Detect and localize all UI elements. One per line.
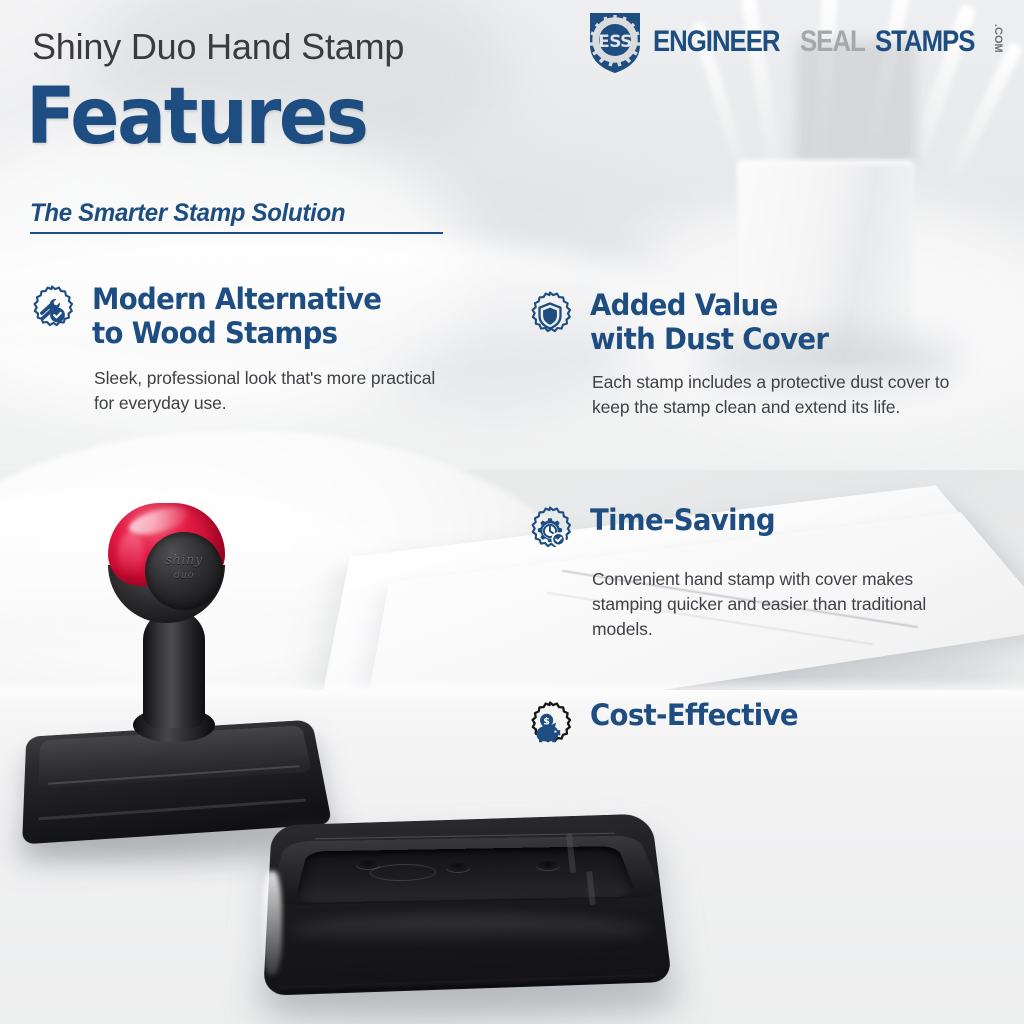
feature-title-line: with Dust Cover [590,322,828,356]
shield-badge-icon [524,290,576,342]
feature-title-line: Modern Alternative [92,282,381,316]
subheading-underline [30,232,443,234]
feature-title-line: Added Value [590,288,828,322]
page-title: Features [26,78,367,156]
feature-description: Sleek, professional look that's more pra… [94,366,454,416]
feature-title-line: to Wood Stamps [92,316,381,350]
logo-word-seal: SEAL [800,27,865,57]
feature-header: $ Cost-Effective [524,698,1004,752]
feature-description: Convenient hand stamp with cover makes s… [592,567,972,642]
logo-word-dotcom: .COM [992,24,1004,53]
feature-item-added-value: Added Value with Dust Cover Each stamp i… [524,288,1004,420]
feature-title: Time-Saving [590,503,775,537]
feature-title: Modern Alternative to Wood Stamps [92,282,381,350]
feature-title: Added Value with Dust Cover [590,288,828,356]
feature-description: Each stamp includes a protective dust co… [592,370,962,420]
clock-gear-check-badge-icon [524,505,576,557]
content-layer: Shiny Duo Hand Stamp [0,0,1024,1024]
subheading-block: The Smarter Stamp Solution [30,198,443,234]
tools-check-badge-icon [26,284,78,336]
product-title: Shiny Duo Hand Stamp [32,26,404,68]
logo-word-engineer: ENGINEER [653,27,780,57]
feature-item-cost-effective: $ Cost-Effective [524,698,1004,752]
feature-item-time-saving: Time-Saving Convenient hand stamp with c… [524,503,1004,642]
feature-title-line: Time-Saving [590,503,775,537]
brand-logo[interactable]: ESS ENGINEER SEAL STAMPS .COM [582,9,1004,75]
feature-item-modern-alternative: Modern Alternative to Wood Stamps Sleek,… [26,282,496,416]
feature-header: Modern Alternative to Wood Stamps [26,282,496,350]
subheading: The Smarter Stamp Solution [30,198,426,228]
feature-title: Cost-Effective [590,698,798,732]
logo-word-stamps: STAMPS [875,27,974,57]
piggy-bank-badge-icon: $ [524,700,576,752]
feature-header: Added Value with Dust Cover [524,288,1004,356]
infographic-canvas: shiny duo Shiny Duo Hand Stamp [0,0,1024,1024]
svg-text:ESS: ESS [598,32,632,52]
logo-wordmark: ENGINEER SEAL STAMPS .COM [653,27,1004,57]
ess-shield-icon: ESS [582,9,648,75]
feature-header: Time-Saving [524,503,1004,557]
feature-title-line: Cost-Effective [590,698,798,732]
